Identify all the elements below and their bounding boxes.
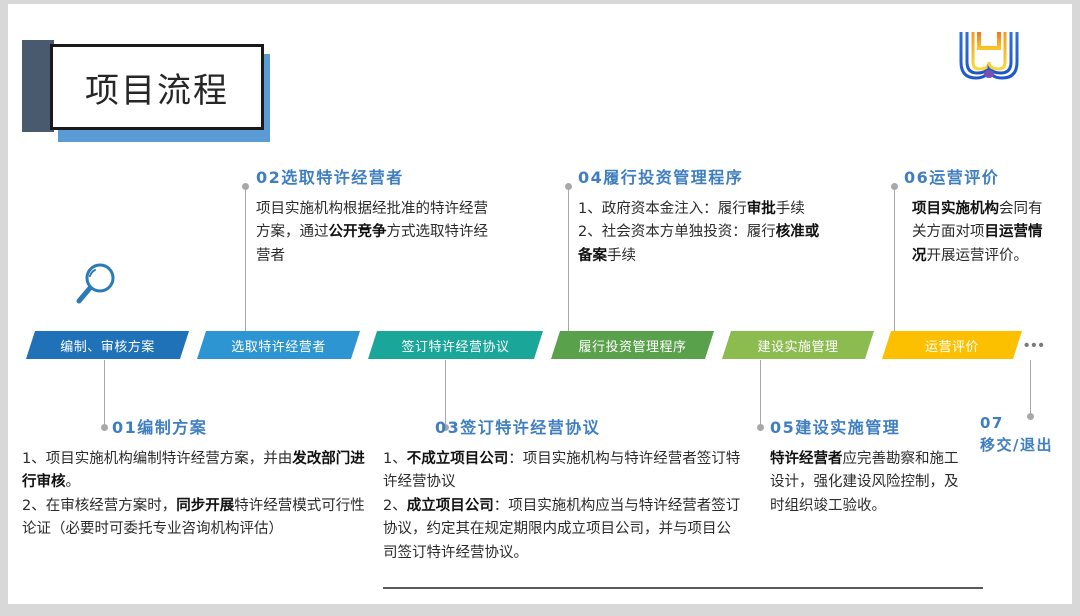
flow-step-3-label: 签订特许经营协议 — [401, 336, 509, 355]
block-04: 04履行投资管理程序 1、政府资本金注入：履行审批手续2、社会资本方单独投资：履… — [578, 164, 828, 268]
flow-overflow-indicator: ••• — [1024, 337, 1046, 354]
block-05-heading: 05建设实施管理 — [770, 414, 960, 438]
flow-step-1-label: 编制、审核方案 — [60, 336, 155, 355]
block-03-heading: 03签订特许经营协议 — [383, 414, 743, 438]
process-flow-bar: 编制、审核方案 选取特许经营者 签订特许经营协议 履行投资管理程序 建设实施管理… — [8, 331, 1072, 359]
connector-line-05 — [760, 360, 761, 426]
block-01-body: 1、项目实施机构编制特许经营方案，并由发改部门进行审核。2、在审核经营方案时，同… — [22, 448, 374, 542]
flow-step-5-label: 建设实施管理 — [757, 336, 838, 355]
search-icon — [70, 259, 120, 315]
block-03: 03签订特许经营协议 1、不成立项目公司：项目实施机构与特许经营者签订特许经营协… — [383, 414, 743, 565]
block-04-heading: 04履行投资管理程序 — [578, 164, 828, 188]
block-03-body: 1、不成立项目公司：项目实施机构与特许经营者签订特许经营协议2、成立项目公司：项… — [383, 448, 743, 565]
slide-canvas: 项目流程 — [8, 4, 1072, 604]
flow-step-2[interactable]: 选取特许经营者 — [197, 331, 360, 359]
page-title-box: 项目流程 — [50, 44, 264, 130]
block-07: 07 移交/退出 — [980, 414, 1070, 465]
flow-step-3[interactable]: 签订特许经营协议 — [368, 331, 543, 359]
connector-line-07 — [1030, 360, 1031, 415]
flow-step-2-label: 选取特许经营者 — [231, 336, 326, 355]
block-07-heading: 07 — [980, 414, 1070, 432]
block-05-body: 特许经营者应完善勘察和施工设计，强化建设风险控制，及时组织竣工验收。 — [770, 448, 960, 518]
connector-dot-06 — [891, 183, 898, 190]
block-07-subheading: 移交/退出 — [980, 434, 1070, 455]
block-01-heading: 01编制方案 — [22, 414, 374, 438]
block-02-body: 项目实施机构根据经批准的特许经营方案，通过公开竞争方式选取特许经营者 — [256, 198, 496, 268]
block-01: 01编制方案 1、项目实施机构编制特许经营方案，并由发改部门进行审核。2、在审核… — [22, 414, 374, 542]
connector-dot-04 — [565, 183, 572, 190]
connector-dot-02 — [242, 183, 249, 190]
block-04-body: 1、政府资本金注入：履行审批手续2、社会资本方单独投资：履行核准或备案手续 — [578, 198, 828, 268]
flow-step-4-label: 履行投资管理程序 — [578, 336, 686, 355]
flow-step-5[interactable]: 建设实施管理 — [722, 331, 874, 359]
block-02: 02选取特许经营者 项目实施机构根据经批准的特许经营方案，通过公开竞争方式选取特… — [256, 164, 496, 268]
connector-line-02 — [245, 186, 246, 331]
connector-dot-05 — [757, 424, 764, 431]
block-06-heading: 06运营评价 — [904, 164, 1044, 188]
flow-step-1[interactable]: 编制、审核方案 — [26, 331, 189, 359]
connector-line-06 — [894, 186, 895, 331]
block-06: 06运营评价 项目实施机构会同有关方面对项目运营情况开展运营评价。 — [904, 164, 1044, 268]
company-logo — [958, 28, 1020, 84]
block-02-heading: 02选取特许经营者 — [256, 164, 496, 188]
flow-step-6[interactable]: 运营评价 — [882, 331, 1022, 359]
connector-line-04 — [568, 186, 569, 331]
block-05: 05建设实施管理 特许经营者应完善勘察和施工设计，强化建设风险控制，及时组织竣工… — [770, 414, 960, 518]
page-title: 项目流程 — [85, 63, 229, 112]
flow-step-4[interactable]: 履行投资管理程序 — [551, 331, 714, 359]
bottom-divider — [383, 587, 983, 589]
block-06-body: 项目实施机构会同有关方面对项目运营情况开展运营评价。 — [904, 198, 1044, 268]
flow-step-6-label: 运营评价 — [925, 336, 979, 355]
